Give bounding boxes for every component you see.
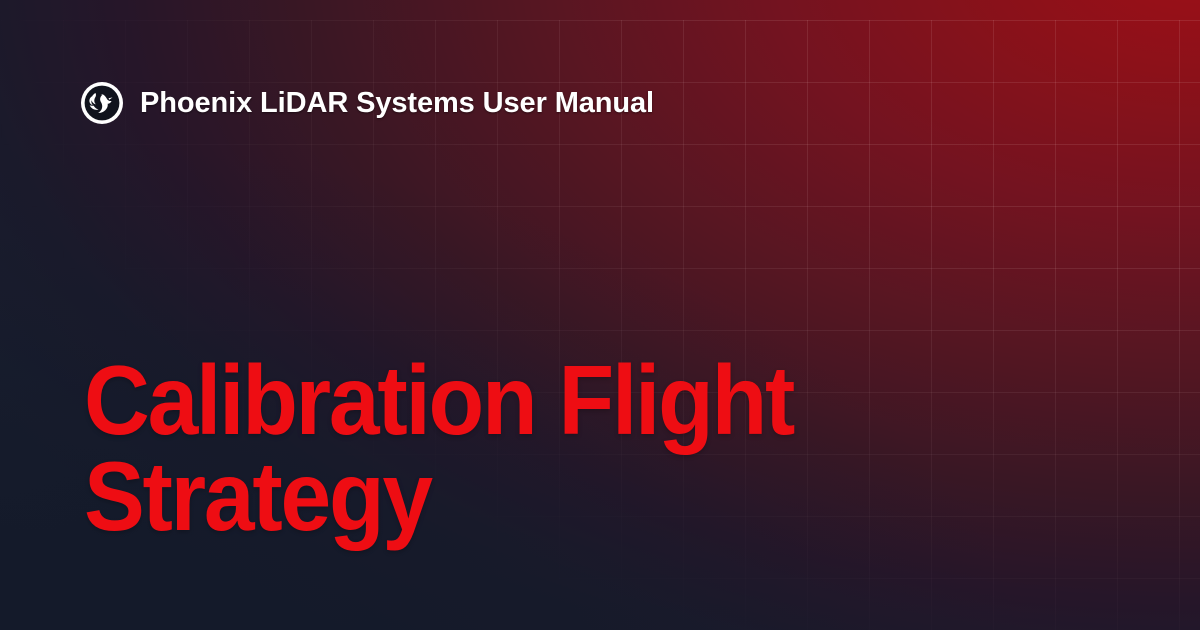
- page-title-line-1: Calibration Flight: [84, 352, 884, 448]
- page-title-line-2: Strategy: [84, 448, 884, 544]
- phoenix-bird-logo-icon: [80, 81, 124, 125]
- card-content: Phoenix LiDAR Systems User Manual Calibr…: [0, 0, 1200, 630]
- social-card-canvas: Phoenix LiDAR Systems User Manual Calibr…: [0, 0, 1200, 630]
- page-title: Calibration Flight Strategy: [84, 352, 884, 544]
- brand-header: Phoenix LiDAR Systems User Manual: [80, 80, 654, 126]
- brand-title: Phoenix LiDAR Systems User Manual: [140, 89, 654, 118]
